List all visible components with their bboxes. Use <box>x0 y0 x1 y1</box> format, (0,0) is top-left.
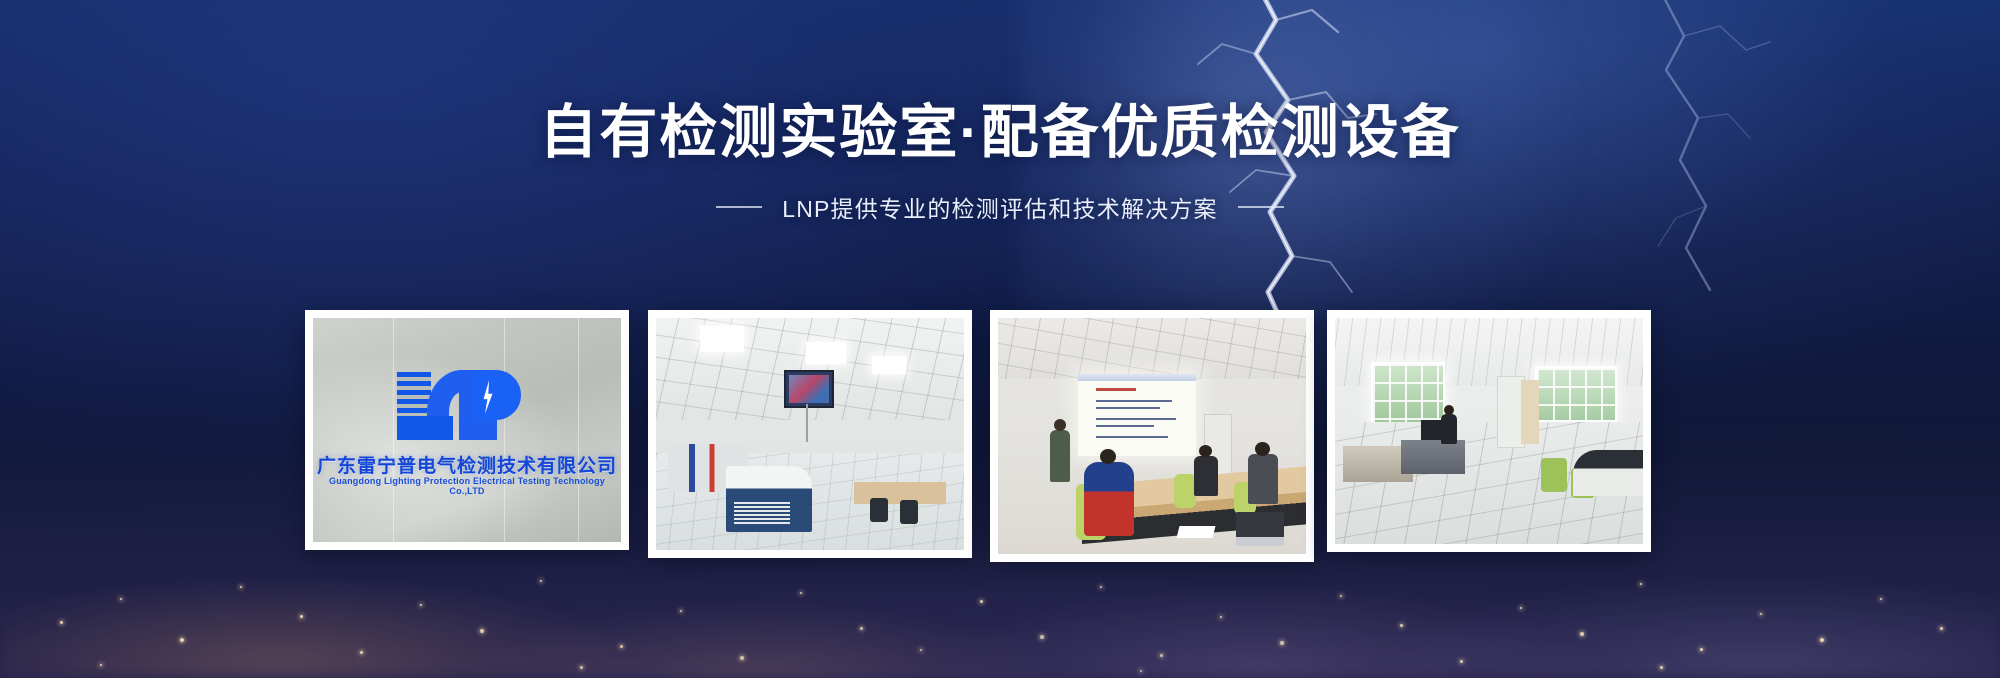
photo-card-testing-laboratory[interactable] <box>648 310 972 558</box>
company-name-en: Guangdong Lighting Protection Electrical… <box>313 476 621 496</box>
photo-lnp-logo-wall: 广东雷宁普电气检测技术有限公司 Guangdong Lighting Prote… <box>313 318 621 542</box>
photo-card-row: 广东雷宁普电气检测技术有限公司 Guangdong Lighting Prote… <box>0 310 2000 560</box>
photo-card-office-workspace[interactable] <box>1327 310 1651 552</box>
subtitle-row: LNP提供专业的检测评估和技术解决方案 <box>0 190 2000 224</box>
company-name-cn: 广东雷宁普电气检测技术有限公司 <box>313 451 621 478</box>
photo-office-workspace <box>1335 318 1643 544</box>
rule-right-icon <box>1238 206 1284 208</box>
page-title: 自有检测实验室·配备优质检测设备 <box>0 0 2000 162</box>
rule-left-icon <box>716 206 762 208</box>
photo-meeting-room <box>998 318 1306 554</box>
photo-testing-laboratory <box>656 318 964 550</box>
lnp-logo-icon <box>397 366 537 440</box>
page-subtitle: LNP提供专业的检测评估和技术解决方案 <box>782 190 1218 224</box>
headline-block: 自有检测实验室·配备优质检测设备 LNP提供专业的检测评估和技术解决方案 <box>0 0 2000 224</box>
photo-card-lnp-logo-wall[interactable]: 广东雷宁普电气检测技术有限公司 Guangdong Lighting Prote… <box>305 310 629 550</box>
hero-banner: 自有检测实验室·配备优质检测设备 LNP提供专业的检测评估和技术解决方案 广东雷… <box>0 0 2000 678</box>
photo-card-meeting-room[interactable] <box>990 310 1314 562</box>
